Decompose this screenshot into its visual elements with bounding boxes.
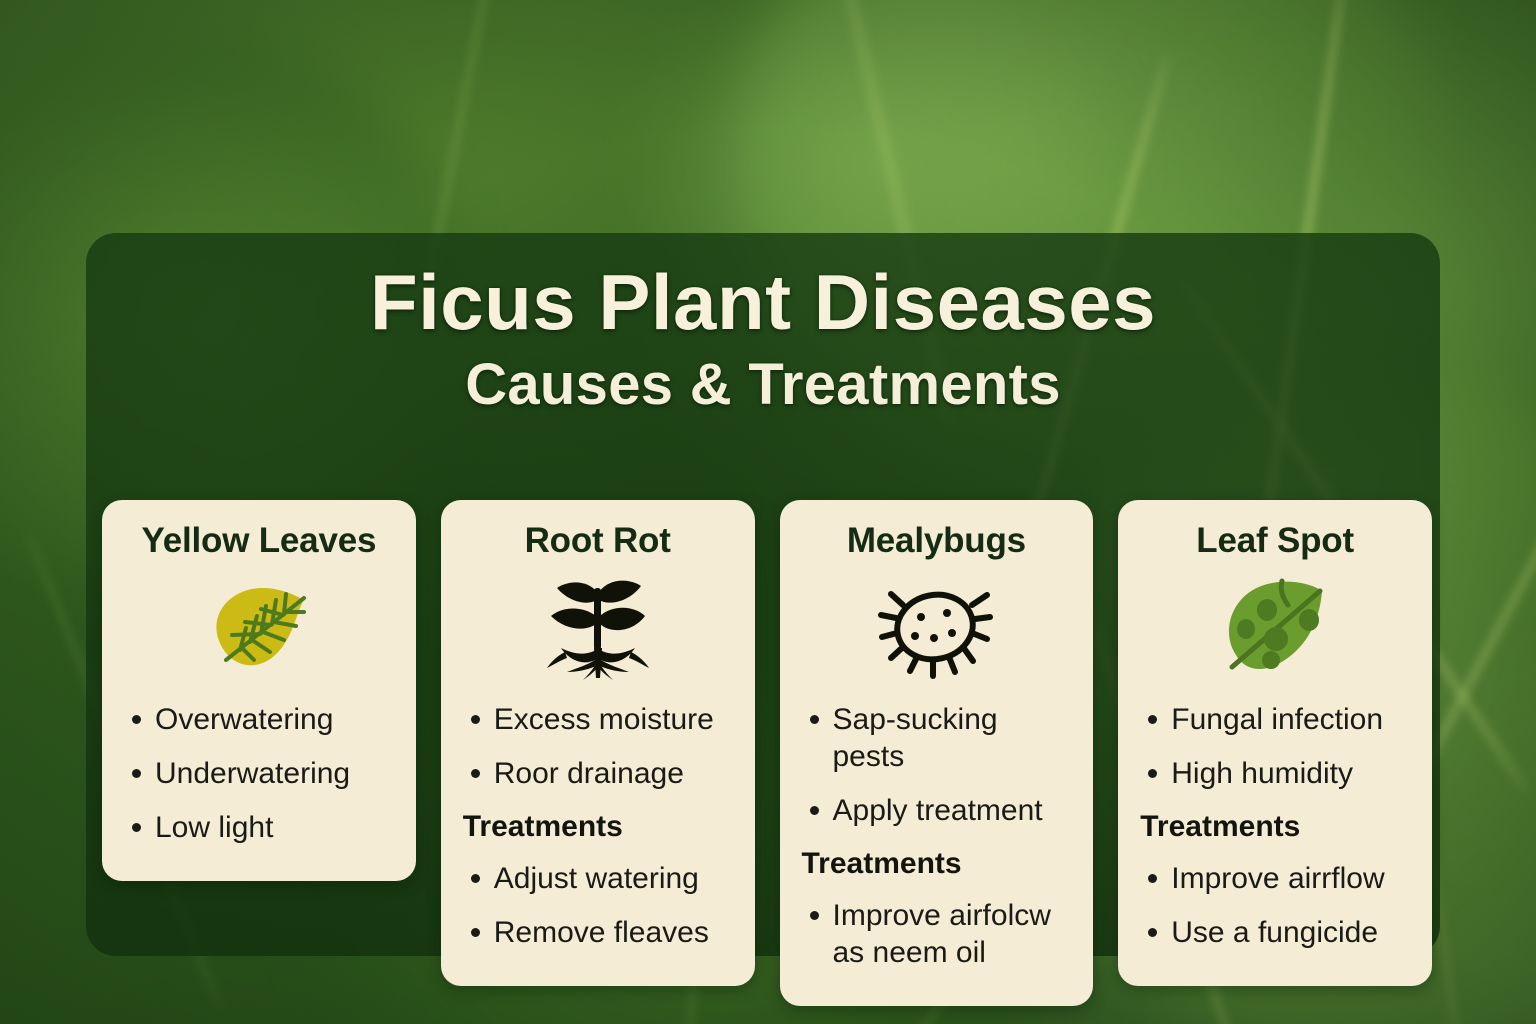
list-item-label: Underwatering [155,755,394,792]
treatments-heading: Treatments [1140,809,1410,845]
bullet-dot [810,806,819,815]
list-item: Improve airfolcw as neem oil [802,897,1072,971]
bullet-dot [132,769,141,778]
disease-card-leaf-spot[interactable]: Leaf Spot Fungal infectio [1118,500,1432,986]
card-title: Yellow Leaves [124,522,394,561]
plant-roots-icon [463,569,733,687]
mealybug-icon [802,569,1072,687]
bullet-dot [471,928,480,937]
disease-card-mealybugs[interactable]: Mealybugs [780,500,1094,1006]
treatments-heading: Treatments [463,809,733,845]
list-item-label: Apply treatment [833,792,1072,829]
list-item-label: Sap-sucking pests [833,701,1072,775]
bullet-dot [132,823,141,832]
header: Ficus Plant Diseases Causes & Treatments [86,262,1440,416]
list-item: Roor drainage [463,755,733,792]
list-item-label: Roor drainage [494,755,733,792]
list-item: Sap-sucking pests [802,701,1072,775]
list-item-label: Overwatering [155,701,394,738]
page-title: Ficus Plant Diseases [86,262,1440,343]
bullet-dot [1148,769,1157,778]
bullet-dot [1148,715,1157,724]
list-item: Low light [124,809,394,846]
list-item: Excess moisture [463,701,733,738]
list-item-label: Excess moisture [494,701,733,738]
treatments-list: Improve airrflow Use a fungicide [1140,860,1410,968]
list-item: Underwatering [124,755,394,792]
bullet-dot [1148,874,1157,883]
list-item: Fungal infection [1140,701,1410,738]
page-subtitle: Causes & Treatments [86,355,1440,416]
bullet-dot [471,769,480,778]
list-item-label: Remove fleaves [494,914,733,951]
bullet-dot [1148,928,1157,937]
disease-card-grid: Yellow Leaves [102,500,1432,1006]
list-item-label: Adjust watering [494,860,733,897]
card-title: Root Rot [463,522,733,561]
treatments-list: Improve airfolcw as neem oil [802,897,1072,988]
spotted-leaf-icon [1140,569,1410,687]
treatments-list: Adjust watering Remove fleaves [463,860,733,968]
list-item: Use a fungicide [1140,914,1410,951]
bullet-dot [471,715,480,724]
list-item: Remove fleaves [463,914,733,951]
list-item: Apply treatment [802,792,1072,829]
yellow-leaf-icon [124,569,394,687]
list-item-label: Low light [155,809,394,846]
causes-list: Sap-sucking pests Apply treatment [802,701,1072,847]
treatments-heading: Treatments [802,846,1072,882]
bullet-dot [810,911,819,920]
causes-list: Overwatering Underwatering Low light [124,701,394,864]
card-title: Leaf Spot [1140,522,1410,561]
list-item-label: Fungal infection [1171,701,1410,738]
bullet-dot [471,874,480,883]
list-item: Adjust watering [463,860,733,897]
list-item-label: Improve airrflow [1171,860,1410,897]
list-item: Improve airrflow [1140,860,1410,897]
bullet-dot [810,715,819,724]
list-item: Overwatering [124,701,394,738]
list-item: High humidity [1140,755,1410,792]
disease-card-yellow-leaves[interactable]: Yellow Leaves [102,500,416,881]
card-title: Mealybugs [802,522,1072,561]
list-item-label: Use a fungicide [1171,914,1410,951]
bullet-dot [132,715,141,724]
causes-list: Excess moisture Roor drainage [463,701,733,809]
list-item-label: High humidity [1171,755,1410,792]
list-item-label: Improve airfolcw as neem oil [833,897,1072,971]
causes-list: Fungal infection High humidity [1140,701,1410,809]
disease-card-root-rot[interactable]: Root Rot [441,500,755,986]
